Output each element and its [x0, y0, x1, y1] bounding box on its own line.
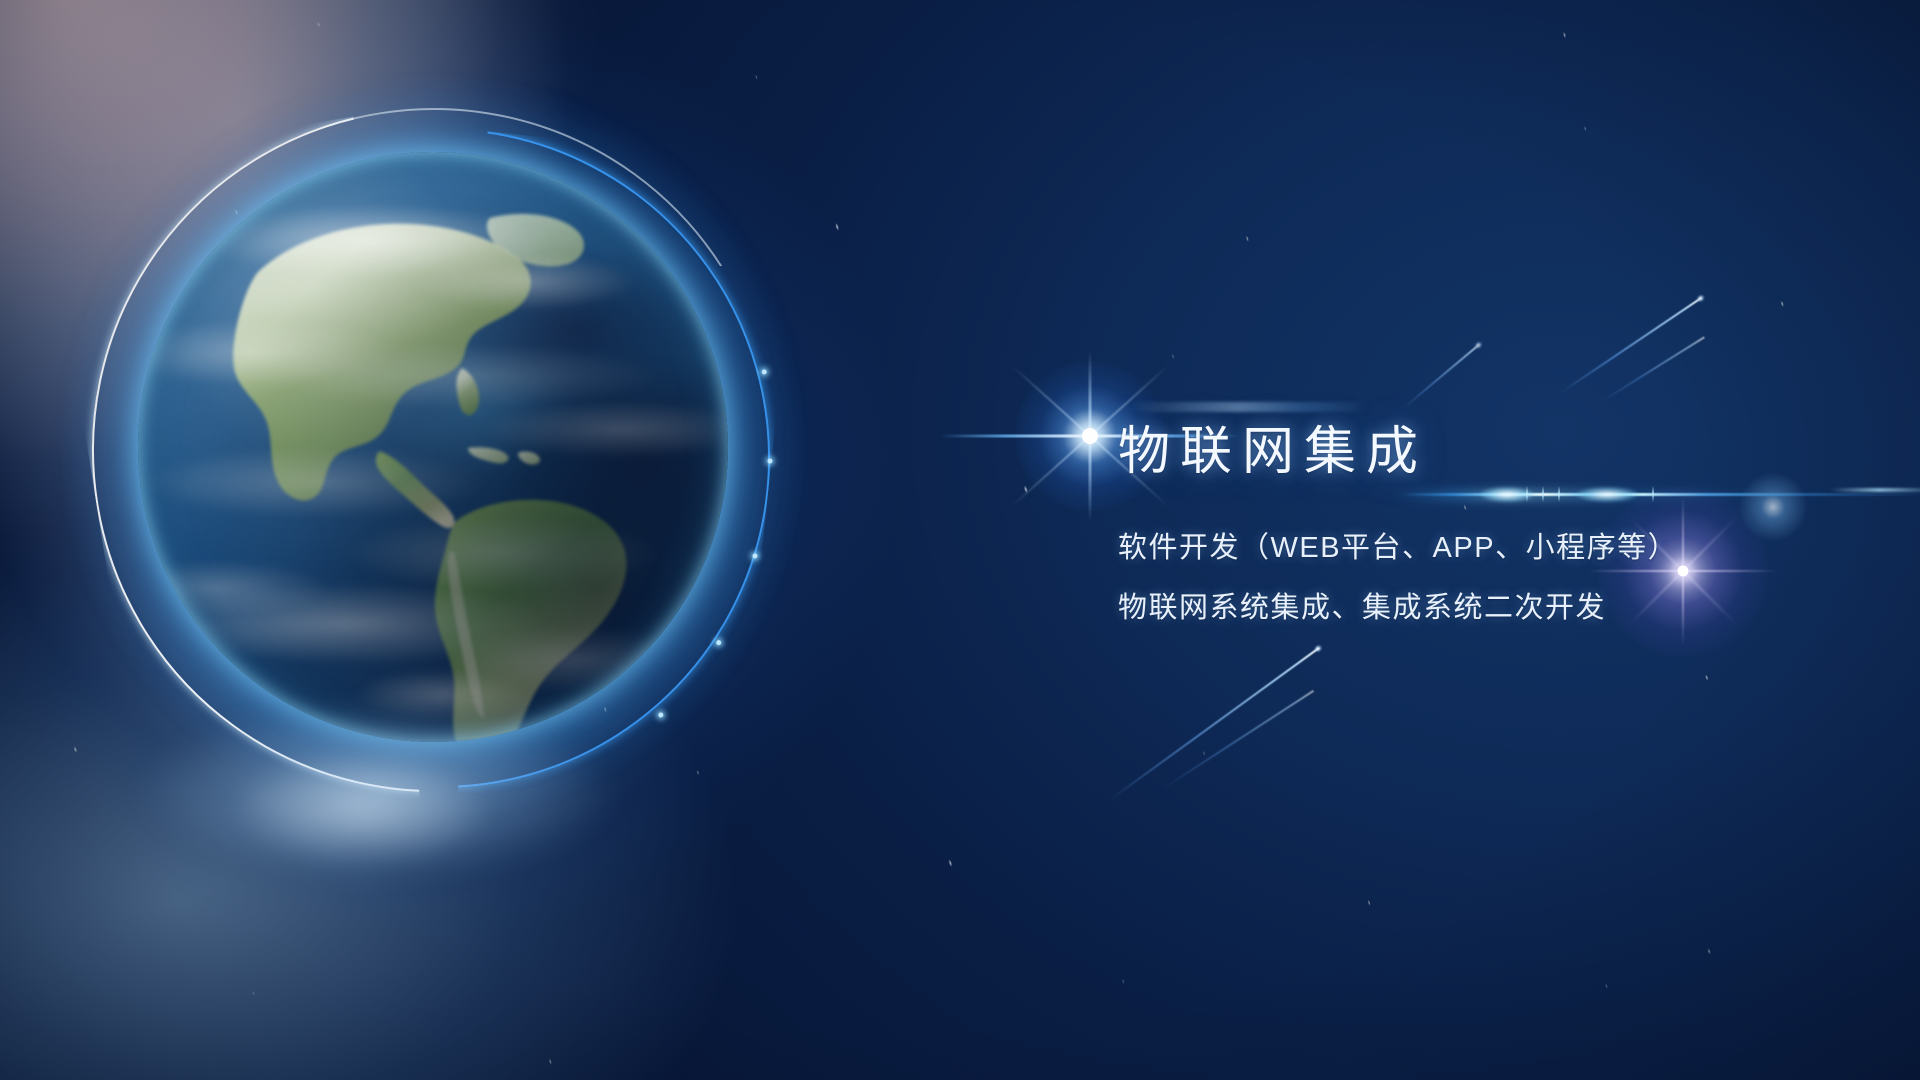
meteor-streak: [1560, 297, 1701, 392]
meteor-streak: [1402, 344, 1479, 408]
subtitle-line-1: 软件开发（WEB平台、APP、小程序等）: [1118, 524, 1878, 566]
globe-reflection-core: [196, 742, 526, 892]
meteor-streak: [1108, 647, 1318, 800]
subtitle-line-2: 物联网系统集成、集成系统二次开发: [1118, 584, 1878, 626]
page-title: 物联网集成: [1118, 424, 1878, 480]
hero-banner: 物联网集成 软件开发（WEB平台、APP、小程序等） 物联网系统集成、集成系统二…: [0, 0, 1920, 1080]
meteor-streak: [1602, 336, 1704, 400]
lens-flare-prestreak: [1130, 402, 1370, 412]
banner-text-block: 物联网集成 软件开发（WEB平台、APP、小程序等） 物联网系统集成、集成系统二…: [1118, 424, 1878, 626]
